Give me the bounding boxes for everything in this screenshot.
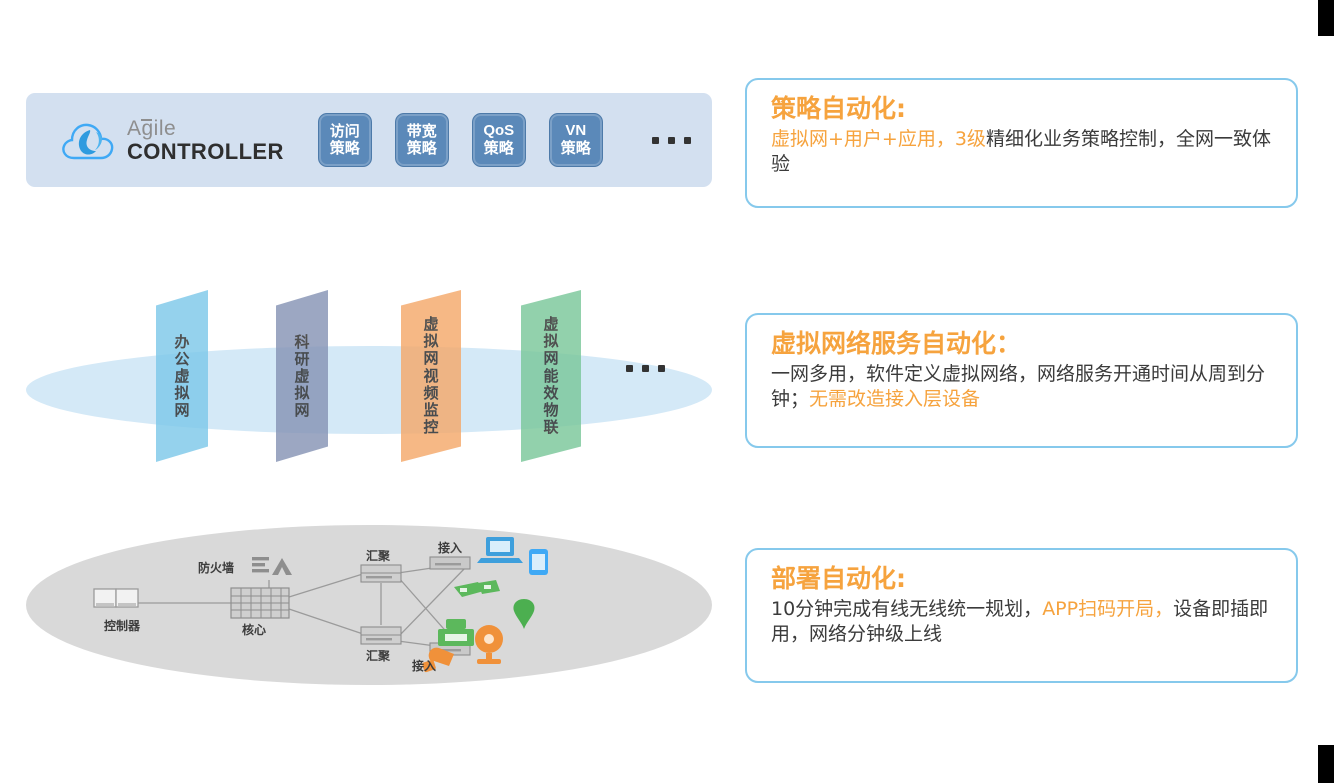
banner-ellipsis-icon <box>652 137 691 144</box>
node-label-core-switch: 核心 <box>242 621 266 638</box>
macron-accent <box>141 119 152 121</box>
plane-research-vn: 科研虚拟网 <box>276 290 328 462</box>
switch-icon-access-upper <box>430 557 470 569</box>
corner-bar-bottom <box>1318 745 1334 783</box>
agile-controller-logo: Agile CONTROLLER <box>60 118 284 163</box>
chip-line-2: 策略 <box>561 140 591 157</box>
endpoint-laptop-icon <box>477 537 523 563</box>
corner-bar-top <box>1318 0 1334 36</box>
slide-canvas: Agile CONTROLLER 访问 策略 带宽 策略 QoS 策略 VN 策… <box>0 0 1334 783</box>
chip-line-1: 访问 <box>330 123 360 140</box>
cloud-icon <box>60 118 116 162</box>
logo-brand-agile: Agile <box>127 118 176 139</box>
card-virtual-network-service-automation: 虚拟网络服务自动化： 一网多用，软件定义虚拟网络，网络服务开通时间从周到分钟；无… <box>745 313 1298 448</box>
monitor-icon <box>94 589 138 607</box>
firewall-icon <box>252 557 292 575</box>
plane-energy-iot-vn: 能效物联 虚拟网 <box>521 290 581 462</box>
logo-brand-controller: CONTROLLER <box>127 141 284 163</box>
node-label-aggregation-upper: 汇聚 <box>366 547 390 564</box>
switch-icon-aggregation-upper <box>361 565 401 582</box>
card-body-text: 10分钟完成有线无线统一规划， <box>771 598 1042 620</box>
endpoint-tablet-icon <box>529 549 548 575</box>
chip-bandwidth-policy[interactable]: 带宽 策略 <box>395 113 449 167</box>
card-body-highlight: APP扫码开局， <box>1042 598 1173 620</box>
chip-line-1: QoS <box>483 123 514 140</box>
underlay-network-ellipse <box>26 346 712 434</box>
switch-icon-core <box>231 588 289 618</box>
agile-controller-banner: Agile CONTROLLER 访问 策略 带宽 策略 QoS 策略 VN 策… <box>26 93 712 187</box>
plane-label-col-1: 视频监控 <box>421 368 442 436</box>
plane-video-surveillance-vn: 视频监控 虚拟网 <box>401 290 461 462</box>
card-title: 部署自动化: <box>771 564 1276 594</box>
card-body: 10分钟完成有线无线统一规划，APP扫码开局，设备即插即用，网络分钟级上线 <box>771 597 1276 648</box>
chip-line-2: 策略 <box>484 140 514 157</box>
node-label-controller: 控制器 <box>104 617 140 634</box>
card-title: 策略自动化: <box>771 94 1276 124</box>
card-title: 虚拟网络服务自动化： <box>771 329 1276 359</box>
plane-label-col-1: 科研虚拟网 <box>292 334 313 419</box>
plane-label-col-2: 虚拟网 <box>421 316 442 367</box>
node-label-firewall: 防火墙 <box>198 559 234 576</box>
endpoint-webcam-icon <box>475 625 503 664</box>
node-label-access-lower: 接入 <box>412 657 436 674</box>
plane-label-col-2: 虚拟网 <box>541 316 562 367</box>
switch-icon-aggregation-lower <box>361 627 401 644</box>
endpoint-printer-icon <box>438 619 474 646</box>
card-body: 虚拟网+用户+应用，3级精细化业务策略控制，全网一致体验 <box>771 127 1276 178</box>
endpoint-lightbulb-icon <box>513 599 534 629</box>
chip-line-1: VN <box>565 123 586 140</box>
virtual-network-planes-diagram: 办公虚拟网 科研虚拟网 视频监控 虚拟网 能效物联 虚拟网 <box>26 290 712 490</box>
card-body-highlight: 虚拟网+用户+应用，3级 <box>771 128 986 150</box>
planes-ellipsis-icon <box>626 365 665 372</box>
card-body: 一网多用，软件定义虚拟网络，网络服务开通时间从周到分钟；无需改造接入层设备 <box>771 362 1276 413</box>
chip-access-policy[interactable]: 访问 策略 <box>318 113 372 167</box>
node-label-access-upper: 接入 <box>438 539 462 556</box>
chip-line-2: 策略 <box>407 140 437 157</box>
plane-label-col-1: 办公虚拟网 <box>172 334 193 419</box>
card-body-highlight: 无需改造接入层设备 <box>809 388 980 410</box>
chip-qos-policy[interactable]: QoS 策略 <box>472 113 526 167</box>
chip-line-1: 带宽 <box>407 123 437 140</box>
node-label-aggregation-lower: 汇聚 <box>366 647 390 664</box>
plane-office-vn: 办公虚拟网 <box>156 290 208 462</box>
topology-link-lines <box>138 563 466 649</box>
chip-line-2: 策略 <box>330 140 360 157</box>
network-topology-diagram: 控制器 防火墙 核心 汇聚 汇聚 接入 接入 <box>26 525 712 685</box>
card-deployment-automation: 部署自动化: 10分钟完成有线无线统一规划，APP扫码开局，设备即插即用，网络分… <box>745 548 1298 683</box>
plane-label-col-1: 能效物联 <box>541 368 562 436</box>
policy-chip-group: 访问 策略 带宽 策略 QoS 策略 VN 策略 <box>318 113 691 167</box>
card-policy-automation: 策略自动化: 虚拟网+用户+应用，3级精细化业务策略控制，全网一致体验 <box>745 78 1298 208</box>
chip-vn-policy[interactable]: VN 策略 <box>549 113 603 167</box>
endpoint-sensor-icon <box>454 580 500 597</box>
